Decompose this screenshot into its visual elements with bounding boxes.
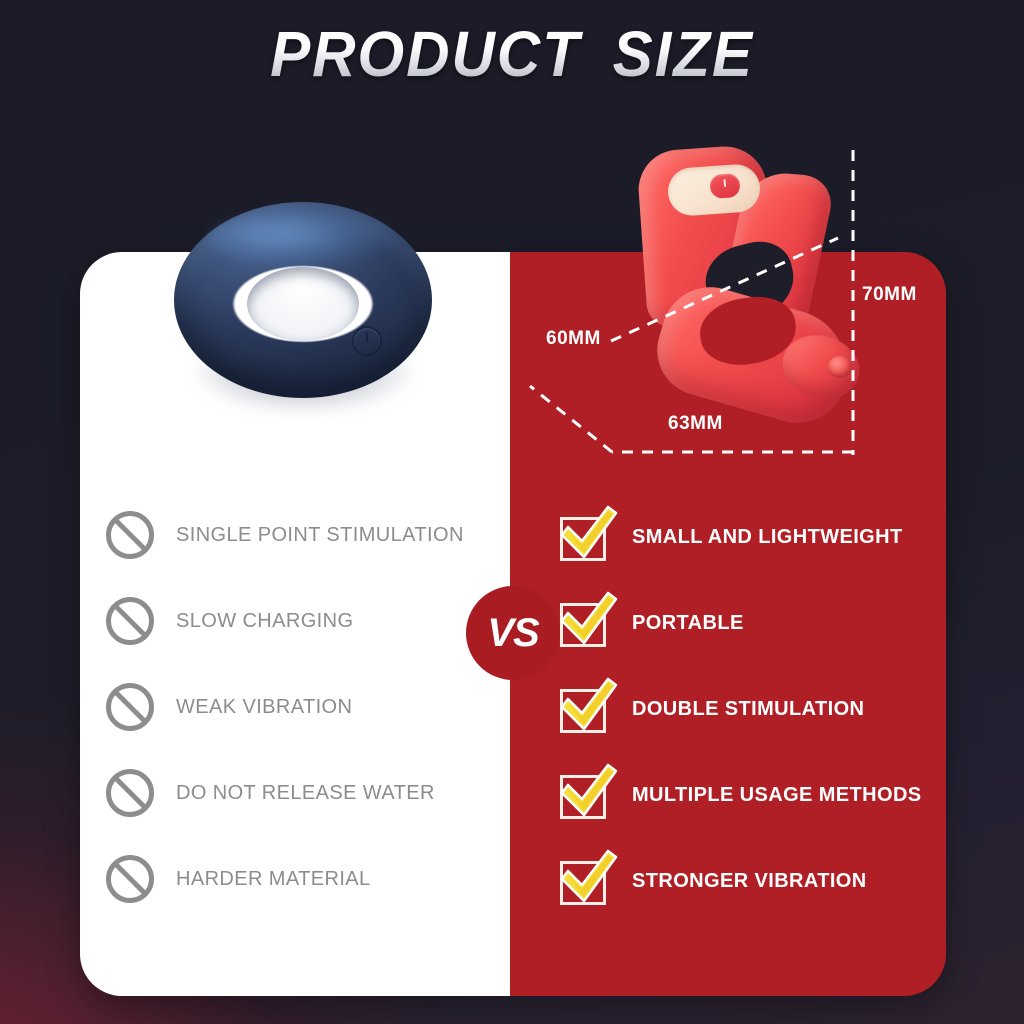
prohibited-icon (106, 597, 154, 645)
dimension-label-width: 60MM (546, 328, 601, 350)
checkbox-checked-icon (560, 857, 608, 905)
checkmark-glyph (558, 763, 620, 819)
vs-badge: VS (466, 586, 560, 680)
pros-list: SMALL AND LIGHTWEIGHT PORTABLE DOUBLE ST… (560, 494, 960, 924)
checkbox-checked-icon (560, 513, 608, 561)
pros-item-label: MULTIPLE USAGE METHODS (632, 784, 922, 807)
cons-item-label: SINGLE POINT STIMULATION (176, 524, 464, 547)
cons-item-label: SLOW CHARGING (176, 610, 353, 633)
list-item: STRONGER VIBRATION (560, 838, 960, 924)
checkbox-checked-icon (560, 771, 608, 819)
checkmark-glyph (558, 505, 620, 561)
prohibited-icon (106, 683, 154, 731)
checkbox-checked-icon (560, 599, 608, 647)
list-item: DO NOT RELEASE WATER (106, 750, 506, 836)
page-title-word-1: PRODUCT (270, 18, 581, 90)
cons-list: SINGLE POINT STIMULATION SLOW CHARGING W… (106, 492, 506, 922)
dimension-label-height: 70MM (862, 284, 917, 306)
list-item: SLOW CHARGING (106, 578, 506, 664)
list-item: PORTABLE (560, 580, 960, 666)
list-item: SMALL AND LIGHTWEIGHT (560, 494, 960, 580)
pros-item-label: STRONGER VIBRATION (632, 870, 867, 893)
checkmark-glyph (558, 849, 620, 905)
list-item: MULTIPLE USAGE METHODS (560, 752, 960, 838)
list-item: HARDER MATERIAL (106, 836, 506, 922)
pros-item-label: DOUBLE STIMULATION (632, 698, 864, 721)
list-item: WEAK VIBRATION (106, 664, 506, 750)
dimension-label-depth: 63MM (668, 413, 723, 435)
prohibited-icon (106, 769, 154, 817)
cons-item-label: WEAK VIBRATION (176, 696, 352, 719)
checkmark-glyph (558, 677, 620, 733)
prohibited-icon (106, 855, 154, 903)
list-item: SINGLE POINT STIMULATION (106, 492, 506, 578)
list-item: DOUBLE STIMULATION (560, 666, 960, 752)
pros-item-label: SMALL AND LIGHTWEIGHT (632, 526, 903, 549)
checkbox-checked-icon (560, 685, 608, 733)
pros-item-label: PORTABLE (632, 612, 744, 635)
page-title: PRODUCTSIZE (31, 22, 994, 86)
cons-item-label: DO NOT RELEASE WATER (176, 782, 435, 805)
page-title-word-2: SIZE (613, 18, 754, 90)
checkmark-glyph (558, 591, 620, 647)
cons-item-label: HARDER MATERIAL (176, 868, 371, 891)
prohibited-icon (106, 511, 154, 559)
